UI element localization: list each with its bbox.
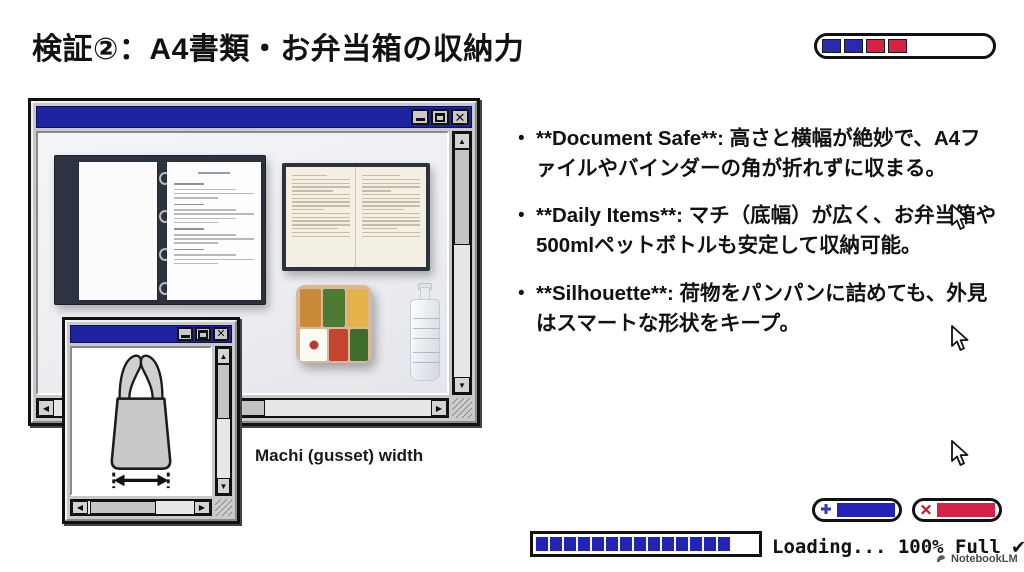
cancel-button-fill <box>937 503 995 517</box>
inset-minimize-button[interactable] <box>177 327 193 341</box>
x-icon <box>919 503 933 517</box>
watermark-label: NotebookLM <box>951 553 1018 565</box>
inset-maximize-button[interactable] <box>195 327 211 341</box>
close-button[interactable]: ✕ <box>451 109 469 125</box>
bullet-marker: • <box>518 201 536 260</box>
list-item: • **Daily Items**: マチ（底幅）が広く、お弁当箱や500mlペ… <box>518 201 998 260</box>
inset-vertical-scroll-track[interactable] <box>217 364 230 478</box>
inset-scroll-up-arrow[interactable]: ▲ <box>217 348 230 364</box>
inset-horizontal-scroll-thumb[interactable] <box>90 501 156 514</box>
inset-window[interactable]: ✕ <box>62 317 240 524</box>
minimize-button[interactable] <box>411 109 429 125</box>
loading-progress-segment <box>536 537 548 551</box>
inset-resize-grip[interactable] <box>215 499 232 516</box>
inset-vertical-scrollbar[interactable]: ▲ ▼ <box>215 346 232 496</box>
bullet-list: • **Document Safe**: 高さと横幅が絶妙で、A4ファイルやバイ… <box>518 124 998 356</box>
arrow-cursor-1 <box>950 204 976 234</box>
binder-photo <box>54 155 266 305</box>
watermark: NotebookLM <box>936 553 1018 565</box>
tote-bag-diagram <box>72 348 210 494</box>
maximize-button[interactable] <box>431 109 449 125</box>
add-button-fill <box>837 503 895 517</box>
loading-progress-segment <box>550 537 562 551</box>
bento-box-photo <box>296 285 372 363</box>
loading-progress-bar <box>530 531 762 557</box>
loading-progress-segment <box>606 537 618 551</box>
top-progress-bar <box>814 33 996 59</box>
list-item: • **Document Safe**: 高さと横幅が絶妙で、A4ファイルやバイ… <box>518 124 998 183</box>
page-title: 検証②：A4書類・お弁当箱の収納力 <box>32 24 524 68</box>
vertical-scroll-thumb[interactable] <box>454 149 470 245</box>
inset-horizontal-scroll-track[interactable] <box>88 501 194 514</box>
loading-progress-segment <box>620 537 632 551</box>
inset-window-titlebar[interactable]: ✕ <box>70 325 232 343</box>
add-button[interactable] <box>812 498 902 522</box>
bullet-text: **Document Safe**: 高さと横幅が絶妙で、A4ファイルやバインダ… <box>536 124 998 183</box>
bullet-marker: • <box>518 279 536 338</box>
loading-progress-segment <box>592 537 604 551</box>
arrow-cursor-2 <box>950 325 976 355</box>
loading-progress-segment <box>578 537 590 551</box>
inset-scroll-down-arrow[interactable]: ▼ <box>217 478 230 494</box>
bullet-text: **Daily Items**: マチ（底幅）が広く、お弁当箱や500mlペット… <box>536 201 998 260</box>
cancel-button[interactable] <box>912 498 1002 522</box>
inset-horizontal-scrollbar[interactable]: ◀ ▶ <box>70 499 212 516</box>
scroll-up-arrow[interactable]: ▲ <box>454 133 470 149</box>
loading-progress-segment <box>634 537 646 551</box>
top-progress-segment <box>844 39 863 53</box>
loading-progress-segment <box>690 537 702 551</box>
water-bottle-photo <box>410 283 440 381</box>
arrow-cursor-3 <box>950 440 976 470</box>
inset-close-button[interactable]: ✕ <box>213 327 229 341</box>
inset-scroll-left-arrow[interactable]: ◀ <box>72 501 88 514</box>
top-progress-segment <box>866 39 885 53</box>
loading-progress-segment <box>676 537 688 551</box>
scroll-right-arrow[interactable]: ▶ <box>431 400 447 416</box>
loading-progress-segment <box>564 537 576 551</box>
notebooklm-logo-icon <box>936 553 948 565</box>
inset-scroll-right-arrow[interactable]: ▶ <box>194 501 210 514</box>
top-progress-segment <box>888 39 907 53</box>
vertical-scroll-track[interactable] <box>454 149 470 377</box>
diagram-caption: Machi (gusset) width <box>255 446 423 466</box>
inset-vertical-scroll-thumb[interactable] <box>217 364 230 419</box>
resize-grip[interactable] <box>452 398 472 418</box>
loading-progress-segment <box>704 537 716 551</box>
loading-progress-segment <box>718 537 730 551</box>
scroll-down-arrow[interactable]: ▼ <box>454 377 470 393</box>
bullet-text: **Silhouette**: 荷物をパンパンに詰めても、外見はスマートな形状を… <box>536 279 998 338</box>
list-item: • **Silhouette**: 荷物をパンパンに詰めても、外見はスマートな形… <box>518 279 998 338</box>
top-progress-segment <box>822 39 841 53</box>
loading-progress-segment <box>662 537 674 551</box>
plus-icon <box>819 503 833 517</box>
main-window-titlebar[interactable]: ✕ <box>36 106 472 128</box>
slide-root: 検証②：A4書類・お弁当箱の収納力 ✕ <box>0 0 1024 572</box>
loading-progress-segment <box>648 537 660 551</box>
open-book-photo <box>282 163 430 271</box>
scroll-left-arrow[interactable]: ◀ <box>38 400 54 416</box>
inset-window-canvas <box>70 346 212 496</box>
bullet-marker: • <box>518 124 536 183</box>
main-vertical-scrollbar[interactable]: ▲ ▼ <box>452 131 472 395</box>
